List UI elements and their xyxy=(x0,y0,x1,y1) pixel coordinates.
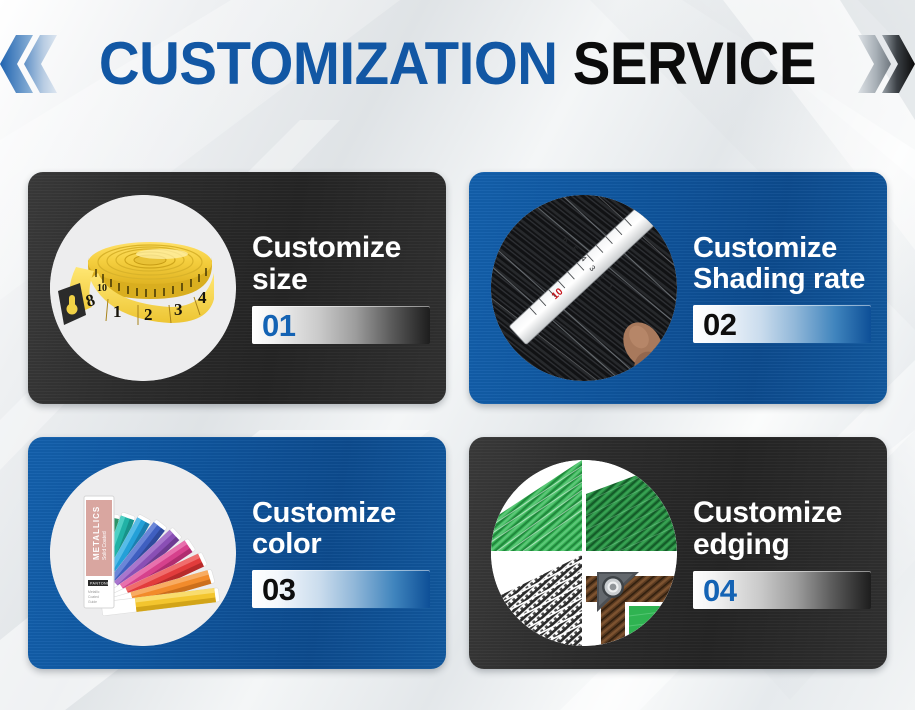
svg-text:10: 10 xyxy=(97,283,107,294)
card-number-badge-02: 02 xyxy=(693,305,871,343)
card-title-04: Customize edging xyxy=(693,497,871,562)
double-chevron-left-icon xyxy=(0,35,58,93)
chevron-right-icon-outer xyxy=(881,35,915,93)
card-number-badge-04: 04 xyxy=(693,571,871,609)
pantone-fan-deck-photo: METALLICS Solid Coated PANTONE Metallic … xyxy=(50,460,236,646)
card-text-block-02: Customize Shading rate 02 xyxy=(677,233,887,344)
page-title-secondary: SERVICE xyxy=(573,30,816,97)
feature-card-02[interactable]: 1 2 3 4 5 6 10 Cus xyxy=(469,172,887,404)
feature-card-03[interactable]: METALLICS Solid Coated PANTONE Metallic … xyxy=(28,437,446,669)
tape-measure-photo: 8 1 2 3 4 10 xyxy=(50,195,236,381)
card-text-block-04: Customize edging 04 xyxy=(677,497,887,610)
svg-text:PANTONE: PANTONE xyxy=(90,582,110,586)
edging-quadrants-photo xyxy=(491,460,677,646)
double-chevron-right-icon xyxy=(857,35,915,93)
feature-card-grid: 8 1 2 3 4 10 xyxy=(28,172,887,672)
card-title-02: Customize Shading rate xyxy=(693,233,871,296)
card-title-01: Customize size xyxy=(252,232,430,297)
card-title-03: Customize color xyxy=(252,498,430,561)
svg-text:Coated: Coated xyxy=(88,595,99,599)
page-header: CUSTOMIZATION SERVICE xyxy=(0,26,915,102)
svg-text:1: 1 xyxy=(113,302,122,321)
card-number-02: 02 xyxy=(703,309,736,340)
card-number-03: 03 xyxy=(262,574,295,605)
card-number-badge-01: 01 xyxy=(252,306,430,344)
card-number-04: 04 xyxy=(703,575,736,606)
tape-measure-illustration: 8 1 2 3 4 10 xyxy=(50,195,236,381)
card-text-block-01: Customize size 01 xyxy=(236,232,446,345)
chevron-left-icon-inner xyxy=(24,35,58,93)
shade-net-ruler-photo: 1 2 3 4 5 6 10 xyxy=(491,195,677,381)
feature-card-01[interactable]: 8 1 2 3 4 10 xyxy=(28,172,446,404)
pantone-fan-deck-illustration: METALLICS Solid Coated PANTONE Metallic … xyxy=(50,460,236,646)
feature-card-04[interactable]: Customize edging 04 xyxy=(469,437,887,669)
shade-net-ruler-illustration: 1 2 3 4 5 6 10 xyxy=(491,195,677,381)
svg-text:4: 4 xyxy=(198,288,207,307)
svg-text:Guide: Guide xyxy=(88,600,97,604)
svg-text:2: 2 xyxy=(144,305,153,324)
svg-text:METALLICS: METALLICS xyxy=(92,506,101,560)
svg-text:3: 3 xyxy=(174,300,183,319)
page-title: CUSTOMIZATION SERVICE xyxy=(91,34,823,94)
card-text-block-03: Customize color 03 xyxy=(236,498,446,609)
card-number-01: 01 xyxy=(262,310,295,341)
card-number-badge-03: 03 xyxy=(252,570,430,608)
edging-quadrants-illustration xyxy=(491,460,677,646)
page-title-primary: CUSTOMIZATION xyxy=(99,30,558,97)
svg-text:Solid Coated: Solid Coated xyxy=(102,531,108,560)
svg-text:Metallic: Metallic xyxy=(88,590,100,594)
